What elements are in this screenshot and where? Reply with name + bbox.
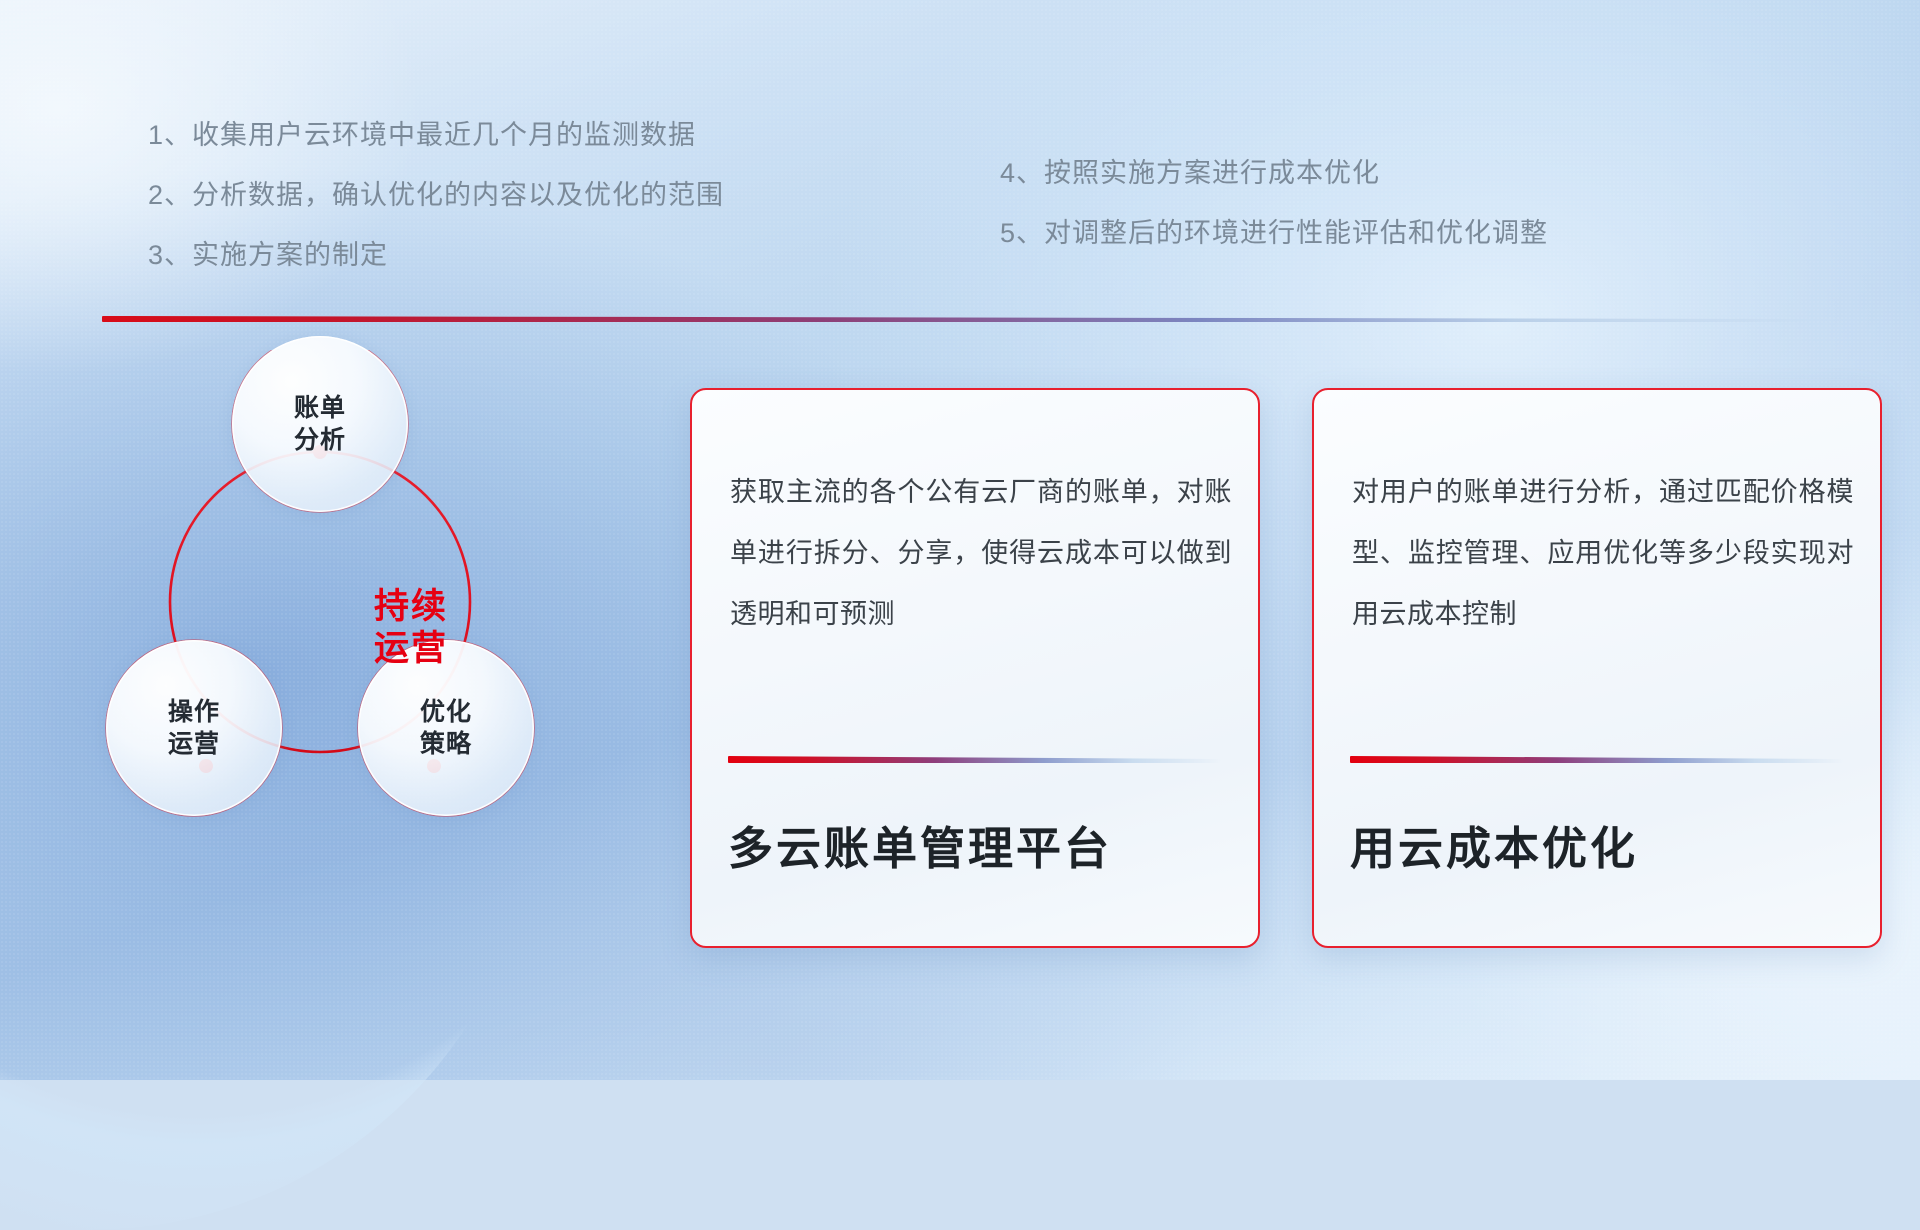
card-2-description: 对用户的账单进行分析，通过匹配价格模型、监控管理、应用优化等多少段实现对用云成本…: [1352, 462, 1854, 644]
process-step-5: 5、对调整后的环境进行性能评估和优化调整: [1000, 220, 1548, 247]
process-steps-right-column: 4、按照实施方案进行成本优化 5、对调整后的环境进行性能评估和优化调整: [1000, 160, 1548, 280]
card-2-title: 用云成本优化: [1350, 822, 1854, 876]
card-1-description: 获取主流的各个公有云厂商的账单，对账单进行拆分、分享，使得云成本可以做到透明和可…: [730, 462, 1232, 644]
venn-bubble-bottom-right-label: 优化 策略: [420, 696, 472, 760]
card-cloud-cost-optimization[interactable]: 对用户的账单进行分析，通过匹配价格模型、监控管理、应用优化等多少段实现对用云成本…: [1312, 388, 1882, 948]
venn-bubble-br-line1: 优化: [420, 698, 472, 726]
venn-center-label: 持续 运营: [316, 586, 506, 670]
process-step-1: 1、收集用户云环境中最近几个月的监测数据: [148, 122, 724, 149]
venn-bubble-br-line2: 策略: [420, 730, 472, 758]
card-multi-cloud-billing-platform[interactable]: 获取主流的各个公有云厂商的账单，对账单进行拆分、分享，使得云成本可以做到透明和可…: [690, 388, 1260, 948]
venn-bubble-top-label: 账单 分析: [294, 392, 346, 456]
venn-bubble-operation[interactable]: 操作 运营: [106, 640, 282, 816]
process-step-2: 2、分析数据，确认优化的内容以及优化的范围: [148, 182, 724, 209]
card-1-title: 多云账单管理平台: [728, 822, 1232, 876]
card-2-accent-rule: [1350, 756, 1844, 763]
venn-center-line1: 持续: [316, 586, 506, 628]
process-steps-left-column: 1、收集用户云环境中最近几个月的监测数据 2、分析数据，确认优化的内容以及优化的…: [148, 122, 724, 302]
venn-bubble-bl-line2: 运营: [168, 730, 220, 758]
continuous-operation-venn-diagram: 账单 分析 操作 运营 优化 策略 持续 运营: [100, 350, 620, 950]
venn-bubble-top-line1: 账单: [294, 394, 346, 422]
process-step-4: 4、按照实施方案进行成本优化: [1000, 160, 1548, 187]
venn-bubble-top-line2: 分析: [294, 426, 346, 454]
process-step-3: 3、实施方案的制定: [148, 242, 724, 269]
venn-bubble-bl-line1: 操作: [168, 698, 220, 726]
card-1-accent-rule: [728, 756, 1222, 763]
venn-center-line2: 运营: [316, 628, 506, 670]
venn-bubble-bottom-left-label: 操作 运营: [168, 696, 220, 760]
venn-bubble-bill-analysis[interactable]: 账单 分析: [232, 336, 408, 512]
